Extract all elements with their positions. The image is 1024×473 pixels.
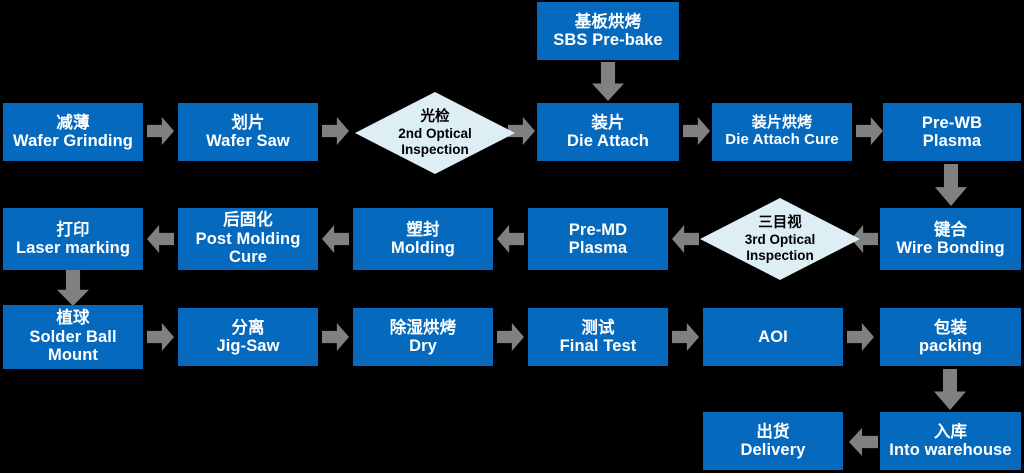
process-node-delivery[interactable]: 出货Delivery	[703, 412, 843, 470]
node-label-line: Wafer Saw	[206, 132, 290, 150]
node-label-line: Final Test	[560, 337, 637, 355]
node-label-line: 包装	[934, 319, 967, 337]
process-node-final_test[interactable]: 测试Final Test	[528, 308, 668, 366]
node-label-line: 装片烘烤	[752, 115, 812, 132]
decision-node-optical_3rd[interactable]: 三目视3rd OpticalInspection	[700, 198, 860, 280]
arrow-into_warehouse-to-delivery	[849, 428, 878, 456]
label-line: Inspection	[745, 248, 816, 264]
node-label-line: Laser marking	[16, 239, 130, 257]
process-node-die_attach[interactable]: 装片Die Attach	[537, 103, 679, 161]
node-label-line: 打印	[56, 221, 89, 239]
node-label-line: 塑封	[406, 221, 439, 239]
label-line: 2nd Optical	[398, 126, 472, 142]
arrow-laser_marking-to-solder_ball	[57, 270, 89, 306]
node-label-line: 植球	[56, 309, 89, 327]
arrow-wafer_grinding-to-wafer_saw	[147, 117, 174, 145]
node-label-line: 键合	[934, 221, 967, 239]
arrow-die_attach_cure-to-pre_wb_plasma	[856, 117, 883, 145]
node-label-line: 装片	[591, 114, 624, 132]
node-label-line: Post Molding	[196, 230, 301, 248]
process-node-wafer_grinding[interactable]: 减薄Wafer Grinding	[3, 103, 143, 161]
node-label-line: 划片	[231, 114, 264, 132]
node-label-line: Cure	[229, 248, 267, 266]
process-node-die_attach_cure[interactable]: 装片烘烤Die Attach Cure	[712, 103, 852, 161]
node-label-line: 出货	[756, 423, 789, 441]
arrow-die_attach-to-die_attach_cure	[683, 117, 710, 145]
process-node-sbs_prebake[interactable]: 基板烘烤SBS Pre-bake	[537, 2, 679, 60]
arrow-solder_ball-to-jig_saw	[147, 323, 174, 351]
arrow-wafer_saw-to-optical_2nd	[322, 117, 349, 145]
process-node-aoi[interactable]: AOI	[703, 308, 843, 366]
decision-label: 三目视3rd OpticalInspection	[745, 215, 816, 264]
arrow-packing-to-into_warehouse	[934, 369, 966, 410]
arrow-pre_wb_plasma-to-wire_bonding	[935, 164, 967, 206]
process-node-pre_wb_plasma[interactable]: Pre-WBPlasma	[883, 103, 1021, 161]
label-line: 3rd Optical	[745, 232, 816, 248]
arrow-sbs_prebake-to-die_attach	[592, 62, 624, 101]
node-label-line: Plasma	[923, 132, 981, 150]
node-label-line: Pre-WB	[922, 114, 982, 132]
arrow-dry-to-final_test	[497, 323, 524, 351]
arrow-jig_saw-to-dry	[322, 323, 349, 351]
label-line: 三目视	[745, 215, 816, 232]
process-node-jig_saw[interactable]: 分离Jig-Saw	[178, 308, 318, 366]
process-node-molding[interactable]: 塑封Molding	[353, 208, 493, 270]
flowchart-canvas: 基板烘烤SBS Pre-bake减薄Wafer Grinding划片Wafer …	[0, 0, 1024, 473]
arrow-post_mold_cure-to-laser_marking	[147, 225, 174, 253]
node-label-line: Jig-Saw	[216, 337, 279, 355]
node-label-line: 分离	[231, 319, 264, 337]
node-label-line: Into warehouse	[889, 441, 1011, 459]
node-label-line: 入库	[934, 423, 967, 441]
node-label-line: 后固化	[223, 211, 273, 229]
node-label-line: AOI	[758, 328, 788, 346]
process-node-wire_bonding[interactable]: 键合Wire Bonding	[880, 208, 1021, 270]
node-label-line: SBS Pre-bake	[553, 31, 662, 49]
process-node-pre_md_plasma[interactable]: Pre-MDPlasma	[528, 208, 668, 270]
node-label-line: Molding	[391, 239, 455, 257]
node-label-line: packing	[919, 337, 982, 355]
arrow-optical_3rd-to-pre_md_plasma	[672, 225, 699, 253]
process-node-solder_ball[interactable]: 植球Solder BallMount	[3, 305, 143, 369]
node-label-line: Die Attach Cure	[725, 132, 838, 149]
arrow-aoi-to-packing	[847, 323, 874, 351]
process-node-laser_marking[interactable]: 打印Laser marking	[3, 208, 143, 270]
node-label-line: Solder Ball	[29, 328, 116, 346]
process-node-dry[interactable]: 除湿烘烤Dry	[353, 308, 493, 366]
node-label-line: 基板烘烤	[575, 13, 641, 31]
node-label-line: 测试	[581, 319, 614, 337]
process-node-packing[interactable]: 包装packing	[880, 308, 1021, 366]
node-label-line: 减薄	[56, 114, 89, 132]
node-label-line: Wire Bonding	[896, 239, 1004, 257]
node-label-line: 除湿烘烤	[390, 319, 456, 337]
node-label-line: Delivery	[740, 441, 805, 459]
arrow-pre_md_plasma-to-molding	[497, 225, 524, 253]
label-line: 光检	[398, 109, 472, 126]
node-label-line: Wafer Grinding	[13, 132, 133, 150]
arrow-final_test-to-aoi	[672, 323, 699, 351]
process-node-post_mold_cure[interactable]: 后固化Post MoldingCure	[178, 208, 318, 270]
node-label-line: Die Attach	[567, 132, 649, 150]
process-node-wafer_saw[interactable]: 划片Wafer Saw	[178, 103, 318, 161]
decision-node-optical_2nd[interactable]: 光检2nd OpticalInspection	[355, 92, 515, 174]
node-label-line: Plasma	[569, 239, 627, 257]
node-label-line: Mount	[48, 346, 98, 364]
label-line: Inspection	[398, 142, 472, 158]
arrow-molding-to-post_mold_cure	[322, 225, 349, 253]
node-label-line: Pre-MD	[569, 221, 627, 239]
process-node-into_warehouse[interactable]: 入库Into warehouse	[880, 412, 1021, 470]
node-label-line: Dry	[409, 337, 437, 355]
decision-label: 光检2nd OpticalInspection	[398, 109, 472, 158]
